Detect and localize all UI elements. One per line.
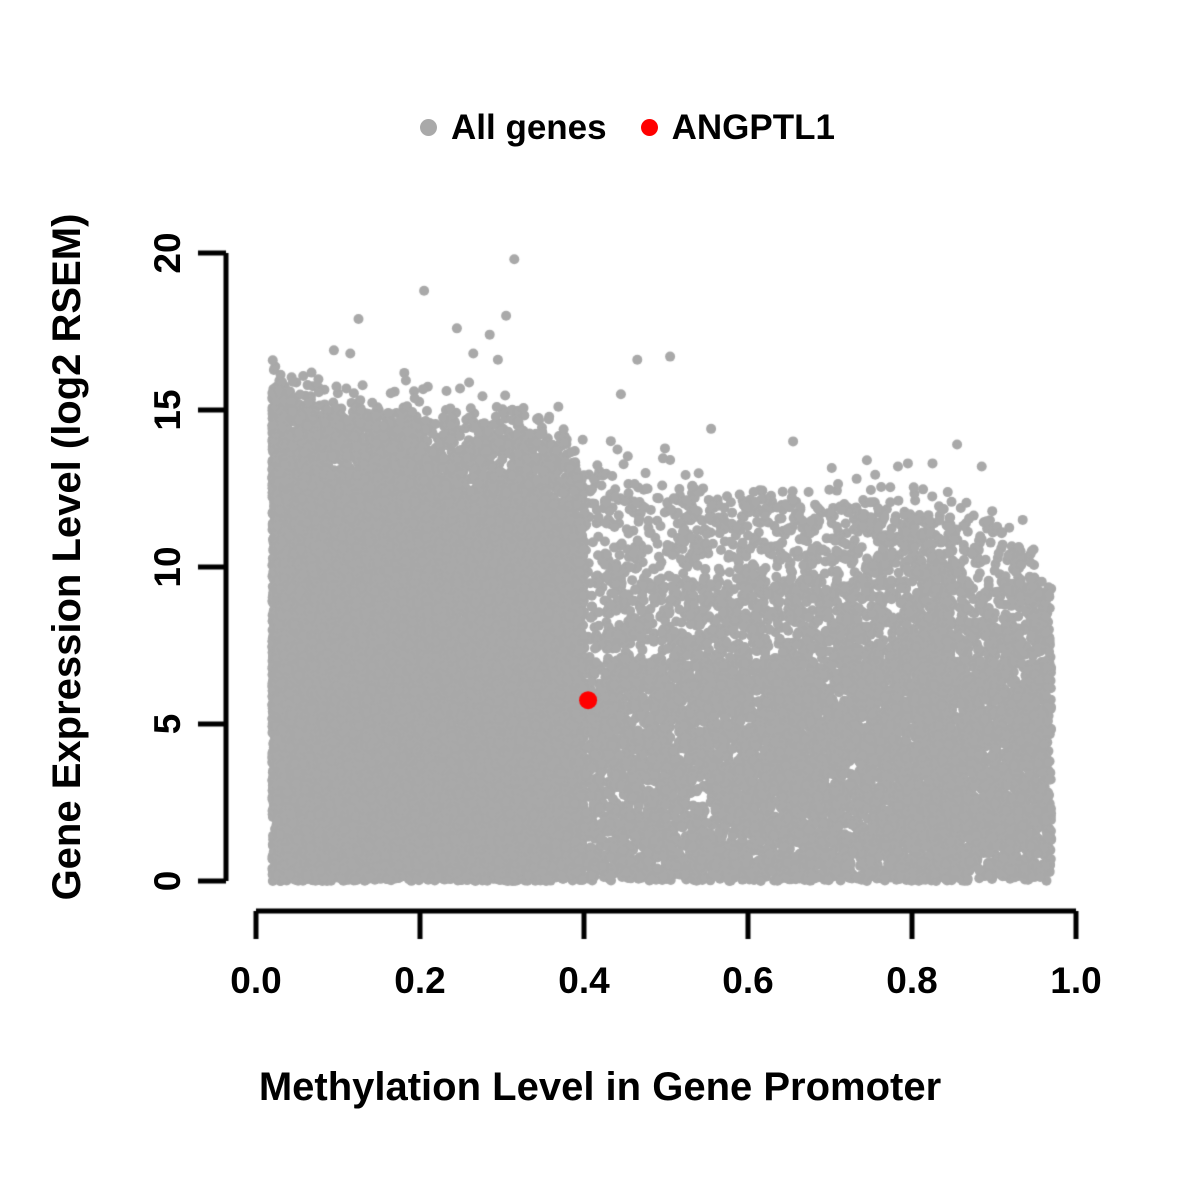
legend-label-all-genes: All genes [451,110,607,145]
x-tick-label: 1.0 [1050,960,1101,1002]
y-axis-title-wrap: Gene Expression Level (log2 RSEM) [45,0,90,1157]
y-tick-label: 15 [147,389,189,430]
y-tick-label: 0 [147,871,189,892]
scatter-plot-figure: All genes ANGPTL1 0.00.20.40.60.81.0 051… [0,0,1200,1200]
scatter-plot-canvas [0,0,1200,1200]
y-axis-title: Gene Expression Level (log2 RSEM) [45,214,89,901]
legend-entry-all-genes: All genes [420,110,607,145]
x-tick-label: 0.2 [394,960,445,1002]
x-tick-label: 0.4 [558,960,609,1002]
grey-dot-icon [420,119,437,136]
plot-legend: All genes ANGPTL1 [420,110,835,145]
y-tick-label: 20 [147,232,189,273]
red-dot-icon [641,119,658,136]
legend-entry-angptl1: ANGPTL1 [641,110,835,145]
x-tick-label: 0.8 [886,960,937,1002]
y-tick-label: 10 [147,546,189,587]
legend-label-angptl1: ANGPTL1 [672,110,835,145]
x-axis-title: Methylation Level in Gene Promoter [0,1065,1200,1110]
x-tick-label: 0.6 [722,960,773,1002]
y-tick-label: 5 [147,714,189,735]
x-tick-label: 0.0 [230,960,281,1002]
